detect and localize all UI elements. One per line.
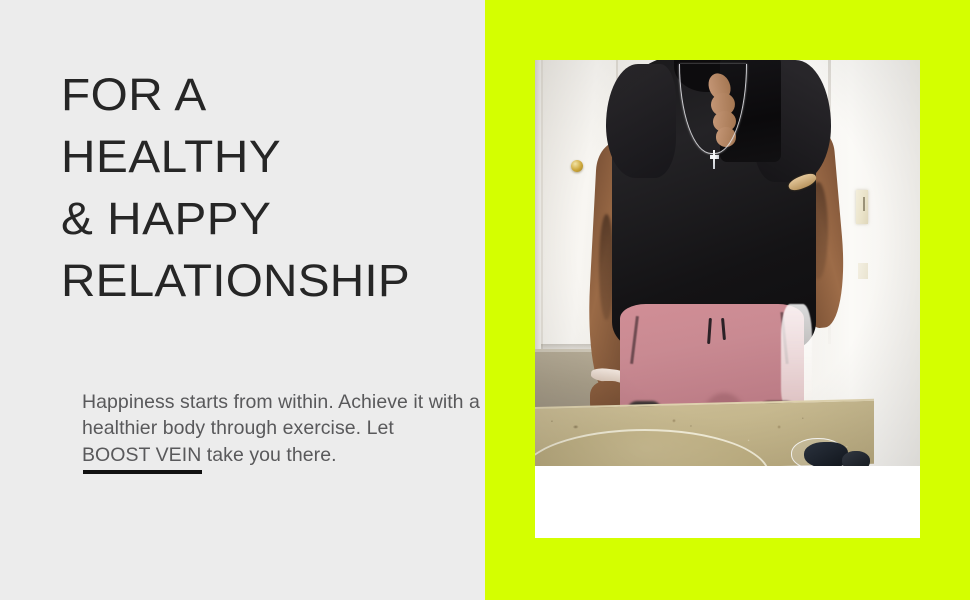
poster-canvas: FOR A HEALTHY & HAPPY RELATIONSHIP Happi… (0, 0, 970, 600)
headline-line-4: RELATIONSHIP (61, 250, 506, 312)
left-content-panel: FOR A HEALTHY & HAPPY RELATIONSHIP Happi… (0, 0, 485, 600)
dark-object-2 (842, 451, 871, 466)
body-text-part-2: take you there. (201, 444, 336, 466)
headline-line-2: HEALTHY (61, 126, 506, 188)
headline-line-1: FOR A (61, 64, 506, 126)
brand-name-boost-vein: BOOST VEIN (82, 442, 201, 469)
left-shoulder (606, 64, 675, 178)
white-object (781, 304, 812, 410)
counter-objects (789, 436, 874, 466)
body-text-part-1: Happiness starts from within. Achieve it… (82, 391, 480, 440)
page-title: FOR A HEALTHY & HAPPY RELATIONSHIP (61, 64, 481, 312)
body-paragraph: Happiness starts from within. Achieve it… (82, 389, 500, 469)
photo-card (535, 60, 920, 538)
photo-caption-band (535, 466, 920, 538)
cross-pendant-icon (710, 150, 719, 169)
photo-image (535, 60, 920, 466)
wall-outlet (858, 263, 868, 279)
photo-scene (535, 60, 920, 466)
doorknob-icon (571, 160, 583, 172)
headline-line-3: & HAPPY (61, 188, 506, 250)
light-switch-plate (856, 190, 868, 224)
